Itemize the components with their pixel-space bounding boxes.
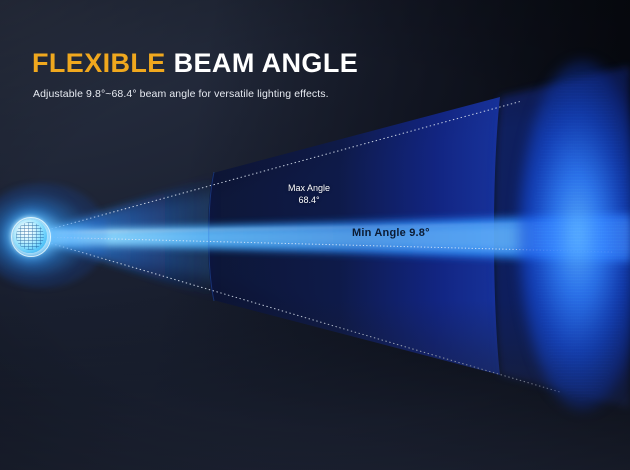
title-main-words: BEAM ANGLE xyxy=(166,48,358,78)
max-angle-label-value: 68.4° xyxy=(274,194,344,206)
led-emitter-ring xyxy=(11,217,51,257)
max-angle-label-text: Max Angle xyxy=(274,182,344,194)
beam-angle-infographic: FLEXIBLE BEAM ANGLE Adjustable 9.8°~68.4… xyxy=(0,0,630,470)
page-subtitle: Adjustable 9.8°~68.4° beam angle for ver… xyxy=(33,88,329,100)
page-title: FLEXIBLE BEAM ANGLE xyxy=(32,50,358,77)
max-angle-label: Max Angle 68.4° xyxy=(274,182,344,206)
projection-wall-texture xyxy=(534,70,630,400)
title-accent-word: FLEXIBLE xyxy=(32,48,166,78)
min-angle-label: Min Angle 9.8° xyxy=(352,227,430,239)
